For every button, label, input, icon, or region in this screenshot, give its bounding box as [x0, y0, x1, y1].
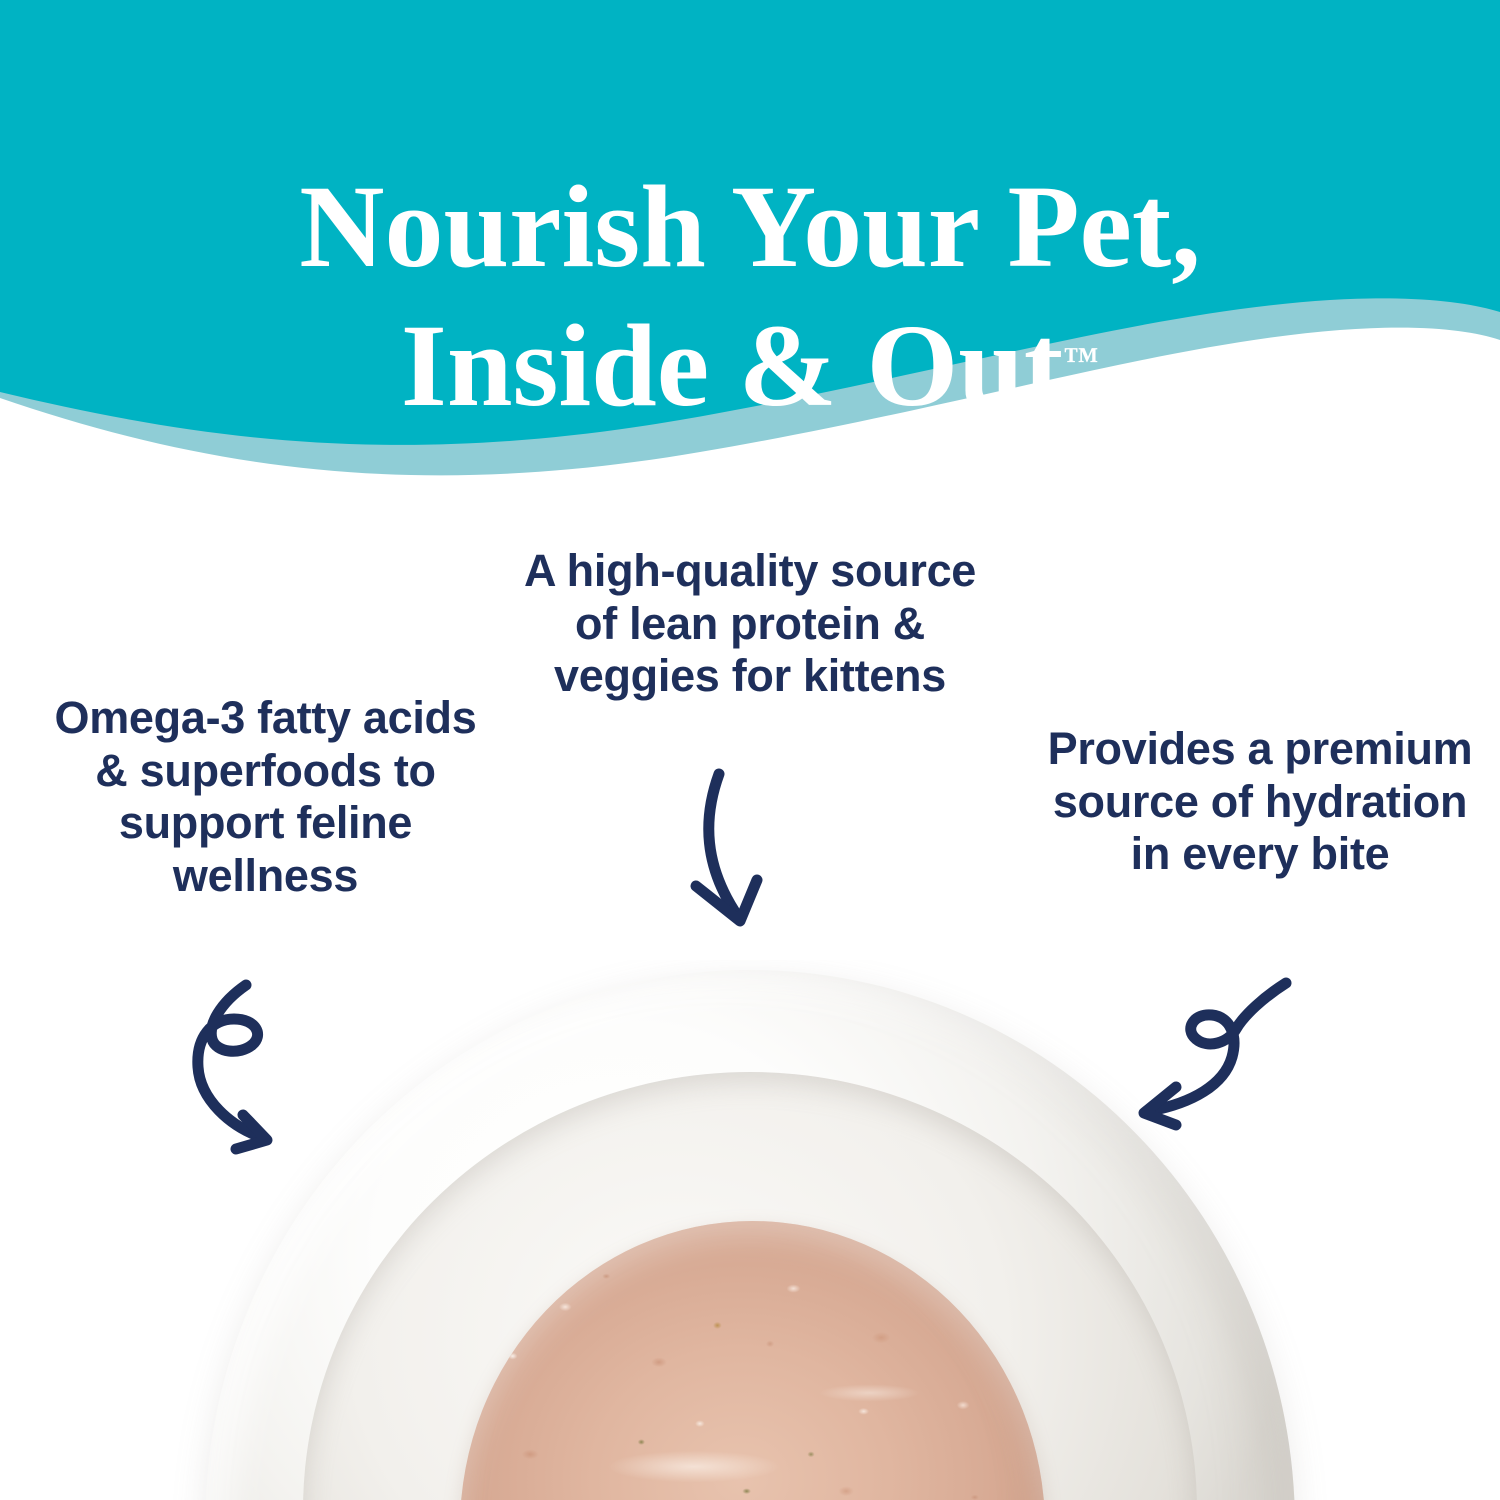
- trademark-symbol: ™: [1063, 340, 1099, 380]
- headline-line-2: Inside & Out™: [0, 296, 1500, 435]
- header-banner: Nourish Your Pet, Inside & Out™: [0, 0, 1500, 500]
- callout-protein-text: A high-quality source of lean protein & …: [500, 545, 1000, 703]
- callout-omega-text: Omega-3 fatty acids & superfoods to supp…: [38, 692, 493, 903]
- cat-food-pate: [460, 1221, 1045, 1500]
- veggie-flecks-icon: [460, 1221, 1045, 1500]
- callout-hydration-text: Provides a premium source of hydration i…: [1040, 723, 1480, 881]
- curved-arrow-down-icon: [663, 762, 813, 942]
- bowl-inner-rim: [303, 1072, 1197, 1500]
- product-feature-banner: Nourish Your Pet, Inside & Out™ Omega-3 …: [0, 0, 1500, 1500]
- headline-line-1: Nourish Your Pet,: [0, 157, 1500, 296]
- page-title: Nourish Your Pet, Inside & Out™: [0, 157, 1500, 435]
- curly-arrow-down-left-icon: [1114, 975, 1304, 1130]
- curly-arrow-down-right-icon: [168, 975, 358, 1165]
- headline-line-2-text: Inside & Out: [401, 300, 1063, 431]
